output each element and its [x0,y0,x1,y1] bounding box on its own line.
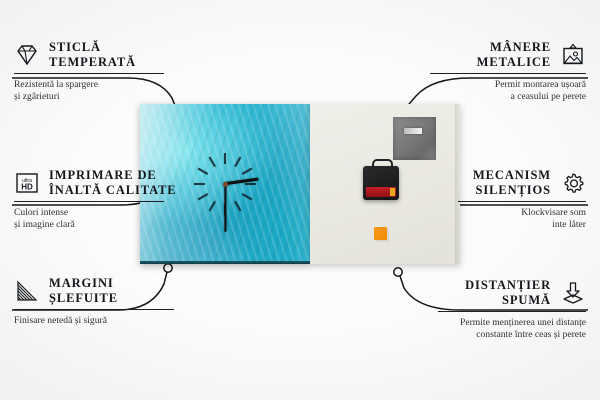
callout-rule [14,201,164,202]
callout-rule [438,311,586,312]
metal-hanger-plate [393,117,436,160]
callout-tempered-glass: STICLĂ TEMPERATĂ Rezistentă la spargere … [14,40,164,103]
polished-edge-icon [14,279,40,303]
callout-rule [430,73,586,74]
feature-title-line1: MECANISM [473,168,551,182]
callout-metal-hangers: MÂNERE METALICE Permit montarea ușoară a… [430,40,586,103]
node-right-3 [394,268,402,276]
feature-title-line2: TEMPERATĂ [49,55,136,69]
callout-silent-mechanism: MECANISM SILENȚIOS Klockvisare som inte … [458,168,586,231]
feature-title-line1: STICLĂ [49,40,101,54]
mechanism-hook [372,159,393,170]
ultra-hd-badge-icon: ultraHD [14,171,40,195]
feature-sub-line2: și zgârieturi [14,91,60,102]
feature-sub-line1: Finisare netedă și sigură [14,315,107,326]
feature-title-line1: DISTANȚIER [465,278,551,292]
callout-rule [458,201,586,202]
clock-minute-hand [224,184,226,232]
feature-title-line1: IMPRIMARE DE [49,168,157,182]
callout-rule [14,309,174,310]
foam-spacer-icon [560,281,586,305]
picture-hanger-icon [560,43,586,67]
callout-polished-edges: MARGINI ȘLEFUITE Finisare netedă și sigu… [14,276,174,327]
feature-sub-line1: Permite menținerea unei distanțe [460,317,586,328]
foam-spacer [374,227,387,240]
feature-sub-line1: Culori intense [14,207,68,218]
callout-foam-spacer: DISTANȚIER SPUMĂ Permite menținerea unei… [438,278,586,341]
feature-sub-line1: Rezistentă la spargere [14,79,98,90]
feature-title-line1: MARGINI [49,276,114,290]
clock-back-panel [310,104,460,264]
feature-title-line2: ȘLEFUITE [49,291,118,305]
feature-title-line1: MÂNERE [490,40,551,54]
node-left-3 [164,264,172,272]
feature-title-line2: ÎNALTĂ CALITATE [49,183,177,197]
gear-icon [560,171,586,195]
infographic-canvas: STICLĂ TEMPERATĂ Rezistentă la spargere … [0,0,600,400]
diamond-icon [14,43,40,67]
feature-sub-line2: constante între ceas și perete [476,329,586,340]
feature-title-line2: SPUMĂ [502,293,551,307]
feature-sub-line2: a ceasului pe perete [511,91,586,102]
clock-mechanism [363,166,399,200]
callout-hd-print: ultraHD IMPRIMARE DE ÎNALTĂ CALITATE Cul… [14,168,164,231]
feature-sub-line2: și imagine clară [14,219,75,230]
callout-rule [14,73,164,74]
clock-center-cap [223,182,228,187]
svg-text:HD: HD [21,182,33,191]
feature-sub-line2: inte låter [552,219,586,230]
feature-sub-line1: Permit montarea ușoară [495,79,586,90]
battery [366,187,396,197]
feature-title-line2: SILENȚIOS [476,183,552,197]
feature-sub-line1: Klockvisare som [521,207,586,218]
feature-title-line2: METALICE [477,55,551,69]
product-image [140,104,460,264]
